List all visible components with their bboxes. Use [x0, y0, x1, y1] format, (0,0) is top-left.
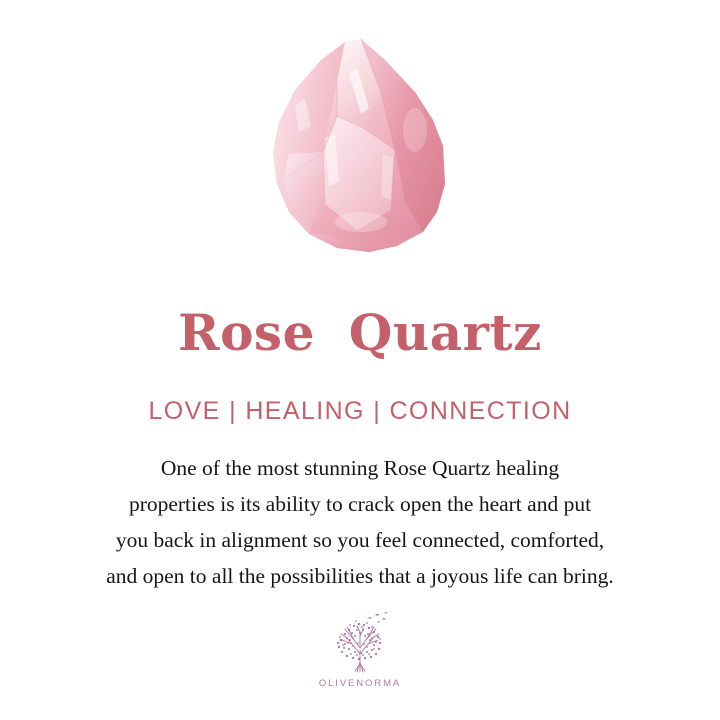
product-info-card: Rose Quartz LOVE | HEALING | CONNECTION …	[0, 0, 720, 720]
hero-image-area	[0, 0, 720, 270]
birds-icon	[368, 612, 388, 622]
tree-of-life-icon	[321, 610, 399, 676]
rose-quartz-crystal-icon	[265, 34, 455, 259]
description-line: you back in alignment so you feel connec…	[28, 522, 692, 558]
description-line: and open to all the possibilities that a…	[28, 558, 692, 594]
crystal-facet-midleft	[283, 152, 325, 226]
description-paragraph: One of the most stunning Rose Quartz hea…	[28, 450, 692, 594]
page-title: Rose Quartz	[0, 303, 720, 363]
description-line: properties is its ability to crack open …	[28, 486, 692, 522]
description-line: One of the most stunning Rose Quartz hea…	[28, 450, 692, 486]
crystal-highlight-3	[381, 154, 393, 200]
brand-wordmark: OLIVENORMA	[319, 678, 401, 689]
crystal-highlight-6	[335, 212, 387, 232]
subtitle-keywords: LOVE | HEALING | CONNECTION	[0, 396, 720, 426]
brand-logo: OLIVENORMA	[0, 610, 720, 689]
crystal-highlight-5	[403, 108, 427, 152]
